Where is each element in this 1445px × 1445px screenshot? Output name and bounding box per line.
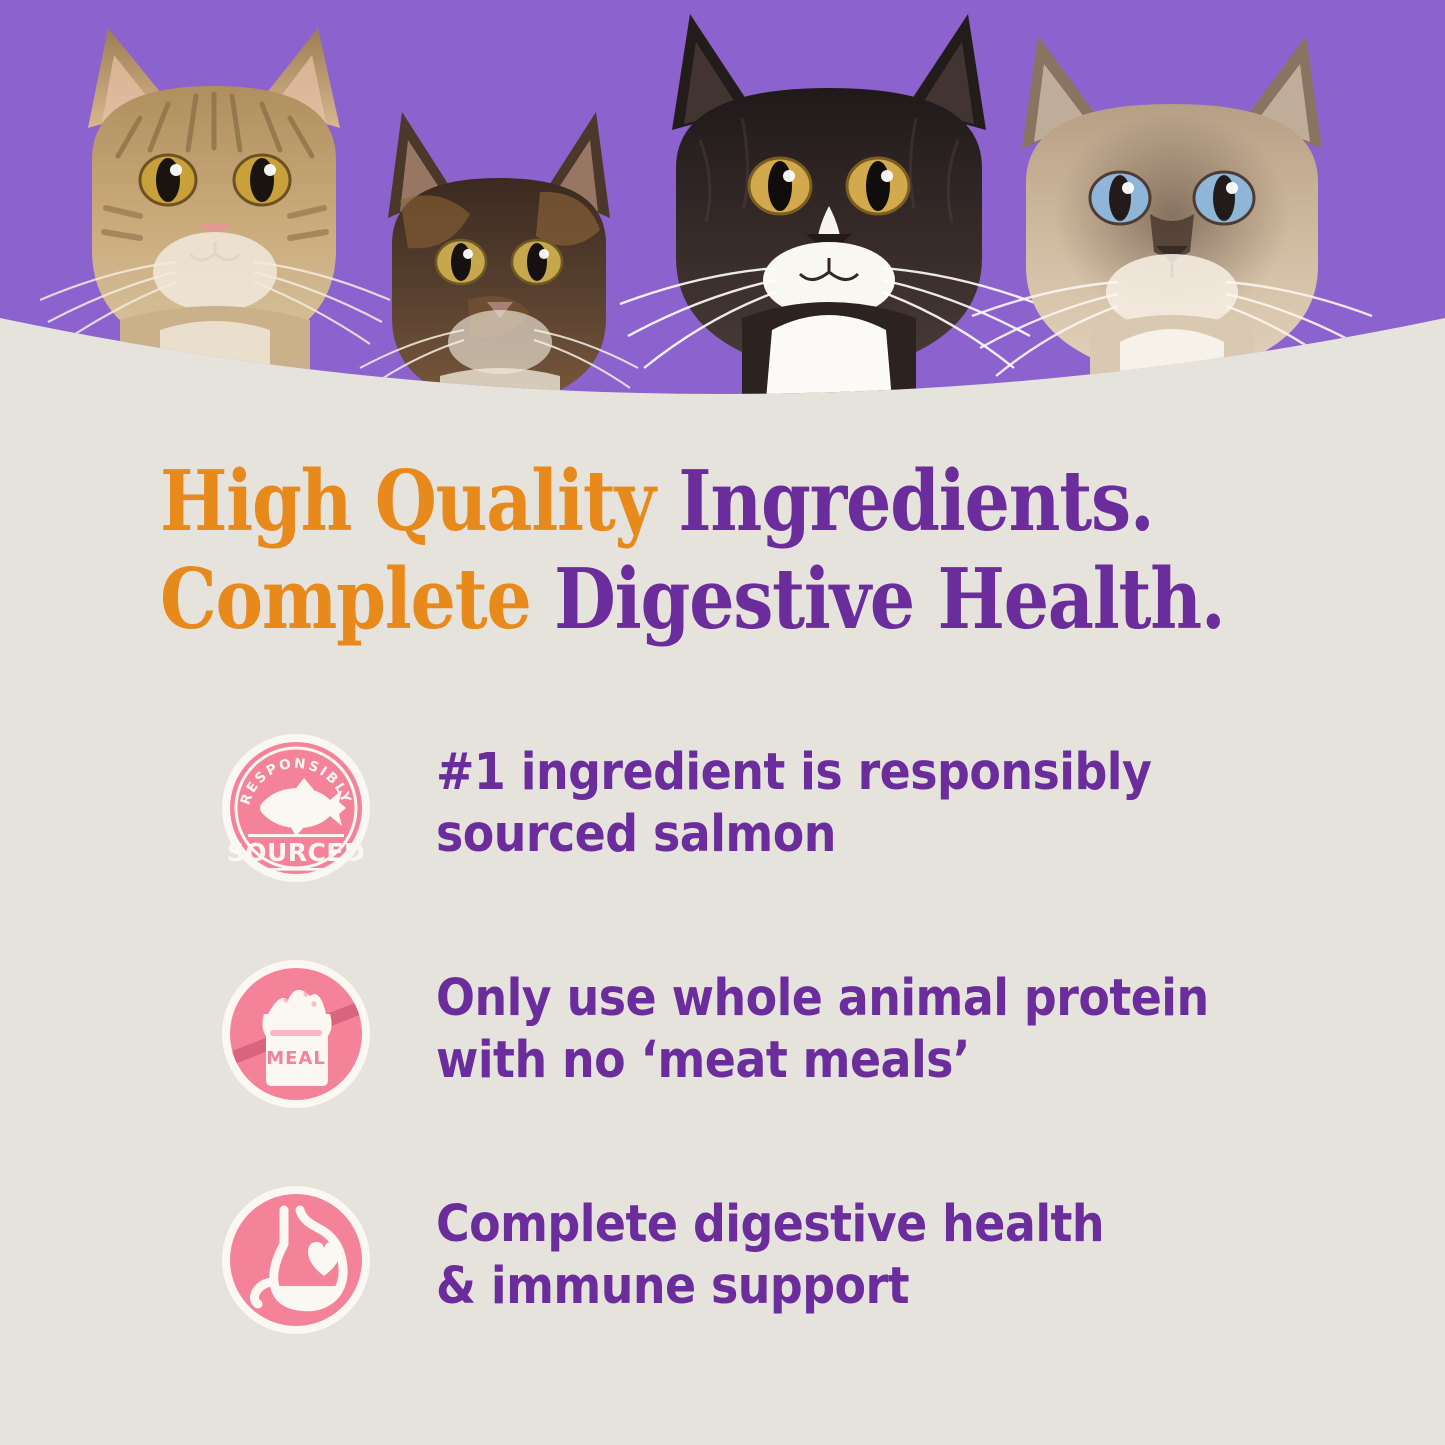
feature-line-1: #1 ingredient is responsibly (436, 743, 1151, 802)
tortoiseshell-cat (360, 112, 638, 400)
feature-item: Complete digestive health & immune suppo… (0, 1170, 1445, 1396)
feature-text: Only use whole animal protein with no ‘m… (436, 968, 1209, 1092)
brown-tabby-cat (40, 28, 390, 400)
feature-list: RESPONSIBLY SOURCED #1 ingredient is res… (0, 718, 1445, 1396)
feature-text: #1 ingredient is responsibly sourced sal… (436, 742, 1151, 866)
badge-main-text: MEAL (266, 1048, 326, 1069)
headline-line-2-purple: Digestive Health. (554, 550, 1224, 648)
cats-illustration (0, 0, 1445, 400)
headline-line-1-orange: High Quality (160, 452, 678, 550)
no-meat-meal-badge: MEAL (218, 956, 374, 1112)
headline-line-1: High Quality Ingredients. (160, 452, 1192, 550)
tuxedo-longhair-cat (620, 14, 1038, 400)
responsibly-sourced-fish-badge: RESPONSIBLY SOURCED (218, 730, 374, 886)
headline-line-2: Complete Digestive Health. (160, 550, 1192, 648)
badge-main-text: SOURCED (227, 838, 366, 867)
hero-banner (0, 0, 1445, 400)
feature-line-1: Only use whole animal protein (436, 969, 1209, 1028)
feature-line-2: & immune support (436, 1256, 1104, 1318)
seal-point-siamese-cat (972, 36, 1372, 400)
feature-line-2: with no ‘meat meals’ (436, 1030, 1209, 1092)
headline-line-2-orange: Complete (160, 550, 554, 648)
page-title: High Quality Ingredients. Complete Diges… (160, 452, 1360, 648)
headline-line-1-purple: Ingredients. (678, 452, 1153, 550)
feature-text: Complete digestive health & immune suppo… (436, 1194, 1104, 1318)
digestive-health-stomach-badge (218, 1182, 374, 1338)
promo-image: High Quality Ingredients. Complete Diges… (0, 0, 1445, 1445)
feature-item: MEAL Only use whole animal protein with … (0, 944, 1445, 1170)
feature-line-1: Complete digestive health (436, 1195, 1104, 1254)
feature-item: RESPONSIBLY SOURCED #1 ingredient is res… (0, 718, 1445, 944)
feature-line-2: sourced salmon (436, 804, 1151, 866)
